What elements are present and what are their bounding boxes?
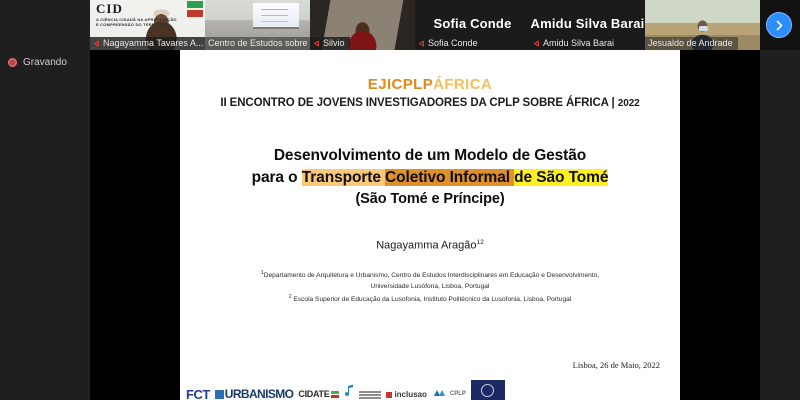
- participant-name-badge: ⏿ Silvio: [310, 37, 350, 50]
- slide-title-block: Desenvolvimento de um Modelo de Gestão p…: [180, 147, 680, 207]
- participant-filmstrip[interactable]: CID A CIÊNCIA CIDADÃ NA APROPRIAÇÃOE COM…: [90, 0, 800, 50]
- participant-tile-silvio[interactable]: ⏿ Silvio: [310, 0, 415, 50]
- title-line-1: Desenvolvimento de um Modelo de Gestão: [180, 147, 680, 165]
- presentation-slide: EJICPLPÁFRICA II ENCONTRO DE JOVENS INVE…: [180, 50, 680, 400]
- projector-screen: [253, 3, 299, 29]
- inclusao-logo-text: inclusao: [394, 389, 426, 400]
- chevron-right-icon: [773, 19, 786, 32]
- affiliation-1-text: Departamento de Arquitetura e Urbanismo,…: [264, 272, 599, 279]
- inclusao-mark: [386, 392, 392, 398]
- recording-indicator: Gravando: [8, 57, 67, 68]
- mic-muted-icon: ⏿: [314, 39, 319, 49]
- cid-logo-icon: CID A CIÊNCIA CIDADÃ NA APROPRIAÇÃOE COM…: [96, 1, 201, 27]
- mic-muted-icon: ⏿: [419, 39, 424, 49]
- urbanismo-logo: URBANISMO: [215, 389, 294, 400]
- title-highlight-sao-tome: de São Tomé: [514, 169, 608, 186]
- event-brand: EJICPLPÁFRICA: [180, 76, 680, 93]
- cidate-mark-red: [331, 395, 339, 398]
- title-highlight-transporte: Transporte: [302, 169, 385, 186]
- shared-screen-stage[interactable]: EJICPLPÁFRICA II ENCONTRO DE JOVENS INVE…: [90, 50, 800, 400]
- universidade-lusofona-logo: [471, 380, 505, 400]
- sponsor-logo-strip: FCT URBANISMO CIDATE inclusao CPLP: [180, 376, 680, 400]
- event-subtitle: II ENCONTRO DE JOVENS INVESTIGADORES DA …: [180, 97, 680, 109]
- recording-label: Gravando: [23, 57, 67, 68]
- slide-author: Nagayamma Aragão12: [180, 239, 680, 252]
- grey-logo: [359, 391, 381, 400]
- participant-name: Jesualdo de Andrade: [648, 38, 733, 49]
- event-brand-africa: ÁFRICA: [433, 76, 492, 93]
- cplp-mark-icon: [432, 388, 448, 400]
- face-mask: [699, 26, 708, 31]
- author-name: Nagayamma Aragão: [376, 240, 476, 252]
- cidate-logo-text: CIDATE: [298, 389, 329, 400]
- note-logo: [344, 383, 354, 400]
- slide-date-place: Lisboa, 26 de Maio, 2022: [573, 360, 660, 370]
- title-line-2: para o Transporte Coletivo Informal de S…: [180, 169, 680, 187]
- participant-name-badge: ⏿ Nagayamma Tavares A...: [90, 37, 205, 50]
- author-affiliation-marker: 12: [477, 239, 484, 246]
- cplp-logo: CPLP: [432, 388, 466, 400]
- event-subtitle-text: II ENCONTRO DE JOVENS INVESTIGADORES DA …: [220, 97, 617, 109]
- participant-name-badge: ⏿ Amidu Silva Barai: [530, 37, 619, 50]
- participant-tile-amidu-silva-barai[interactable]: Amidu Silva Barai ⏿ Amidu Silva Barai: [530, 0, 645, 50]
- participant-display-name: Sofia Conde: [415, 16, 530, 31]
- participant-name-badge: ⏿ Sofia Conde: [415, 37, 483, 50]
- participant-tile-centro-de-estudos[interactable]: Centro de Estudos sobre ...: [205, 0, 310, 50]
- participant-name: Silvio: [323, 38, 345, 49]
- left-rail: Gravando: [0, 0, 90, 400]
- cplp-logo-text: CPLP: [450, 389, 466, 400]
- cid-logo-tagline: A CIÊNCIA CIDADÃ NA APROPRIAÇÃOE COMPREE…: [96, 17, 201, 27]
- participant-name-badge: Jesualdo de Andrade: [645, 37, 738, 50]
- music-note-icon: [344, 383, 354, 397]
- participant-name: Amidu Silva Barai: [543, 38, 614, 49]
- lusofona-seal-icon: [481, 384, 494, 397]
- participant-tile-jesualdo-de-andrade[interactable]: Jesualdo de Andrade: [645, 0, 760, 50]
- participant-name: Nagayamma Tavares A...: [103, 38, 203, 49]
- title-highlight-coletivo-informal: Coletivo Informal: [385, 169, 514, 186]
- cidate-mark-green: [331, 391, 339, 394]
- affiliation-2-text: Escola Superior de Educação da Lusofonia…: [292, 296, 572, 303]
- inclusao-logo: inclusao: [386, 389, 426, 400]
- filmstrip-next-button[interactable]: [766, 12, 792, 38]
- participant-tile-sofia-conde[interactable]: Sofia Conde ⏿ Sofia Conde: [415, 0, 530, 50]
- urbanismo-mark: [215, 390, 224, 399]
- fct-logo: FCT: [186, 389, 210, 400]
- participant-name: Centro de Estudos sobre ...: [208, 38, 310, 49]
- participant-tile-nagayamma-tavares[interactable]: CID A CIÊNCIA CIDADÃ NA APROPRIAÇÃOE COM…: [90, 0, 205, 50]
- mic-muted-icon: ⏿: [534, 39, 539, 49]
- participant-display-name: Amidu Silva Barai: [530, 16, 645, 31]
- event-year: 2022: [618, 98, 640, 109]
- cid-flag-icon: [187, 1, 203, 19]
- slide-affiliations: 1Departamento de Arquitetura e Urbanismo…: [180, 268, 680, 305]
- title-line-2-prefix: para o: [252, 169, 302, 186]
- record-dot-icon: [8, 58, 17, 67]
- title-line-3: (São Tomé e Príncipe): [180, 191, 680, 207]
- cidate-mark: [331, 391, 339, 399]
- cid-logo-word: CID: [96, 1, 201, 17]
- participant-name: Sofia Conde: [428, 38, 478, 49]
- urbanismo-logo-text: URBANISMO: [225, 389, 294, 400]
- mic-muted-icon: ⏿: [94, 39, 99, 49]
- affiliation-1b-text: Universidade Lusófona, Lisboa, Portugal: [371, 283, 490, 290]
- event-brand-ejicplp: EJICPLP: [368, 76, 433, 93]
- cidate-logo: CIDATE: [298, 389, 339, 400]
- participant-name-badge: Centro de Estudos sobre ...: [205, 37, 310, 50]
